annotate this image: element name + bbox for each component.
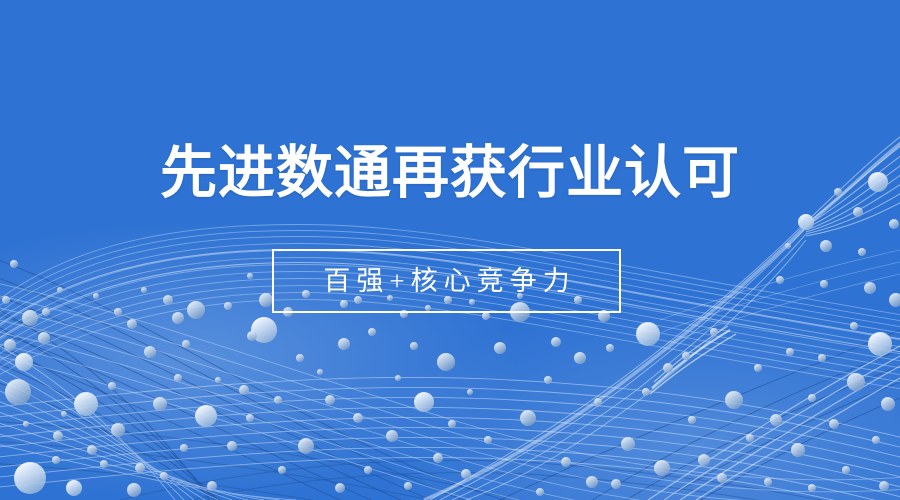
page-title: 先进数通再获行业认可	[0, 137, 900, 211]
promo-banner: 先进数通再获行业认可 百强+核心竞争力	[0, 0, 900, 500]
subtitle-badge: 百强+核心竞争力	[272, 249, 621, 313]
banner-content: 先进数通再获行业认可 百强+核心竞争力	[0, 0, 900, 500]
subtitle-text: 百强+核心竞争力	[317, 266, 575, 296]
